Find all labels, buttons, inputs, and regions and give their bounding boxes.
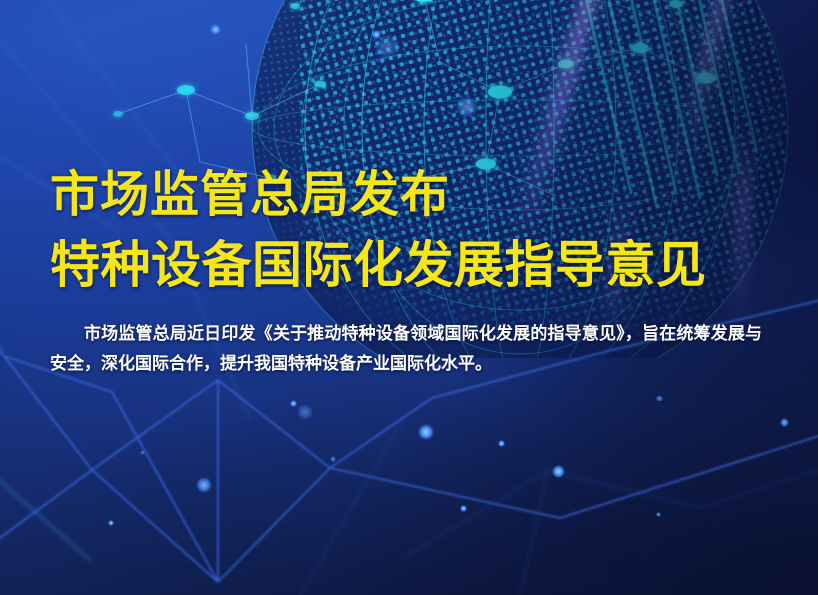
body-paragraph: 市场监管总局近日印发《关于推动特种设备领域国际化发展的指导意见》，旨在统筹发展与… xyxy=(50,319,762,379)
headline-line-2: 特种设备国际化发展指导意见 xyxy=(50,230,810,300)
banner-content: 市场监管总局发布 特种设备国际化发展指导意见 市场监管总局近日印发《关于推动特种… xyxy=(0,0,818,595)
headline-block: 市场监管总局发布 特种设备国际化发展指导意见 xyxy=(50,160,810,300)
body-copy-block: 市场监管总局近日印发《关于推动特种设备领域国际化发展的指导意见》，旨在统筹发展与… xyxy=(50,319,762,379)
headline-line-1: 市场监管总局发布 xyxy=(50,160,810,230)
news-banner: 市场监管总局发布 特种设备国际化发展指导意见 市场监管总局近日印发《关于推动特种… xyxy=(0,0,818,595)
